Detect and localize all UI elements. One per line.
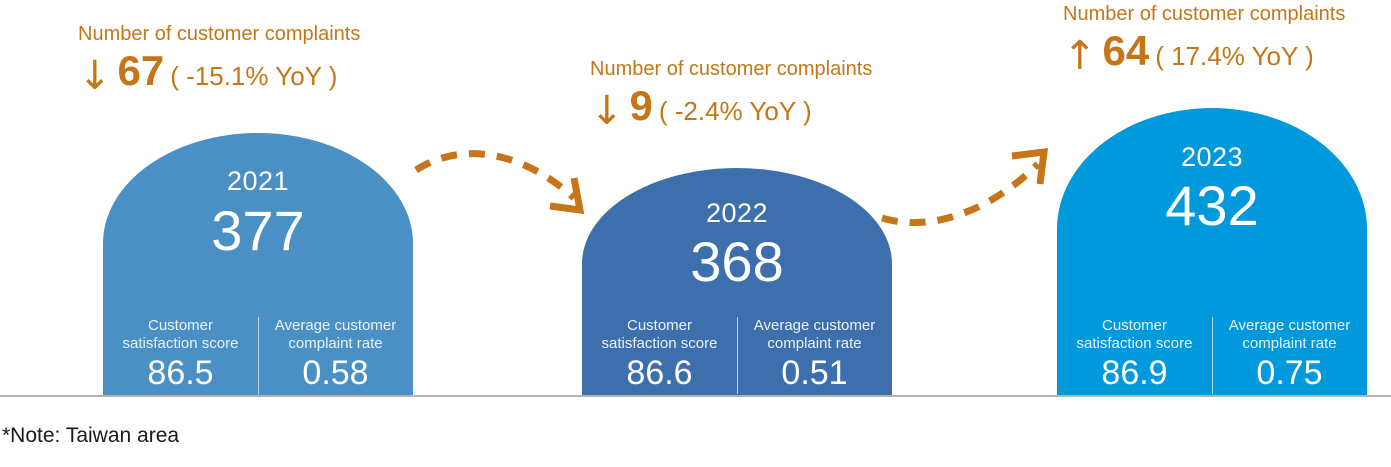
callout-2023: Number of customer complaints ↑ 64 ( 17.…	[1063, 2, 1345, 72]
stat-complaint-rate-value-2023: 0.75	[1216, 355, 1363, 392]
complaint-count-2023: 432	[1057, 178, 1367, 234]
connector-arrow-2022-to-2023	[876, 128, 1076, 238]
stat-complaint-rate-value-2022: 0.51	[741, 355, 888, 392]
callout-2021-delta: ( -15.1% YoY )	[170, 63, 337, 89]
callout-2021-number: 67	[118, 50, 165, 92]
year-label-2023: 2023	[1057, 144, 1367, 171]
year-label-2022: 2022	[582, 200, 892, 227]
column-2021[interactable]: 2021 377 Customer satisfaction score 86.…	[103, 133, 413, 396]
stats-row-2023: Customer satisfaction score 86.9 Average…	[1057, 317, 1367, 396]
column-2023[interactable]: 2023 432 Customer satisfaction score 86.…	[1057, 108, 1367, 396]
stat-complaint-rate-label-2022: Average customer complaint rate	[741, 317, 888, 352]
callout-2021-row: ↓ 67 ( -15.1% YoY )	[78, 50, 360, 92]
column-2022-content: 2022 368 Customer satisfaction score 86.…	[582, 168, 892, 396]
callout-2023-title: Number of customer complaints	[1063, 2, 1345, 26]
complaint-count-2021: 377	[103, 203, 413, 259]
stat-complaint-rate-2021: Average customer complaint rate 0.58	[258, 317, 413, 396]
callout-2023-row: ↑ 64 ( 17.4% YoY )	[1063, 30, 1345, 72]
callout-2023-delta: ( 17.4% YoY )	[1155, 43, 1314, 69]
stat-satisfaction-label-2021: Customer satisfaction score	[107, 317, 254, 352]
baseline-rule	[0, 395, 1391, 397]
arrow-down-icon: ↓	[78, 56, 112, 96]
arrow-up-icon: ↑	[1063, 36, 1097, 76]
callout-2022-title: Number of customer complaints	[590, 57, 872, 81]
column-2022[interactable]: 2022 368 Customer satisfaction score 86.…	[582, 168, 892, 396]
year-label-2021: 2021	[103, 168, 413, 195]
stat-complaint-rate-value-2021: 0.58	[262, 355, 409, 392]
callout-2022: Number of customer complaints ↓ 9 ( -2.4…	[590, 57, 872, 127]
callout-2022-delta: ( -2.4% YoY )	[659, 98, 812, 124]
stat-satisfaction-2021: Customer satisfaction score 86.5	[103, 317, 258, 396]
stat-complaint-rate-2023: Average customer complaint rate 0.75	[1212, 317, 1367, 396]
callout-2023-number: 64	[1103, 30, 1150, 72]
stat-satisfaction-value-2022: 86.6	[586, 355, 733, 392]
callout-2022-row: ↓ 9 ( -2.4% YoY )	[590, 85, 872, 127]
stat-satisfaction-value-2021: 86.5	[107, 355, 254, 392]
stat-satisfaction-label-2022: Customer satisfaction score	[586, 317, 733, 352]
column-2021-content: 2021 377 Customer satisfaction score 86.…	[103, 133, 413, 396]
stat-complaint-rate-2022: Average customer complaint rate 0.51	[737, 317, 892, 396]
stats-row-2021: Customer satisfaction score 86.5 Average…	[103, 317, 413, 396]
stats-row-2022: Customer satisfaction score 86.6 Average…	[582, 317, 892, 396]
stat-complaint-rate-label-2023: Average customer complaint rate	[1216, 317, 1363, 352]
complaint-count-2022: 368	[582, 234, 892, 290]
arrow-down-icon: ↓	[590, 91, 624, 131]
callout-2022-number: 9	[630, 85, 653, 127]
stat-satisfaction-2023: Customer satisfaction score 86.9	[1057, 317, 1212, 396]
footnote: *Note: Taiwan area	[2, 424, 179, 448]
stat-satisfaction-value-2023: 86.9	[1061, 355, 1208, 392]
callout-2021: Number of customer complaints ↓ 67 ( -15…	[78, 22, 360, 92]
column-2023-content: 2023 432 Customer satisfaction score 86.…	[1057, 108, 1367, 396]
infographic-canvas: Number of customer complaints ↓ 67 ( -15…	[0, 0, 1391, 467]
callout-2021-title: Number of customer complaints	[78, 22, 360, 46]
stat-satisfaction-2022: Customer satisfaction score 86.6	[582, 317, 737, 396]
stat-complaint-rate-label-2021: Average customer complaint rate	[262, 317, 409, 352]
stat-satisfaction-label-2023: Customer satisfaction score	[1061, 317, 1208, 352]
